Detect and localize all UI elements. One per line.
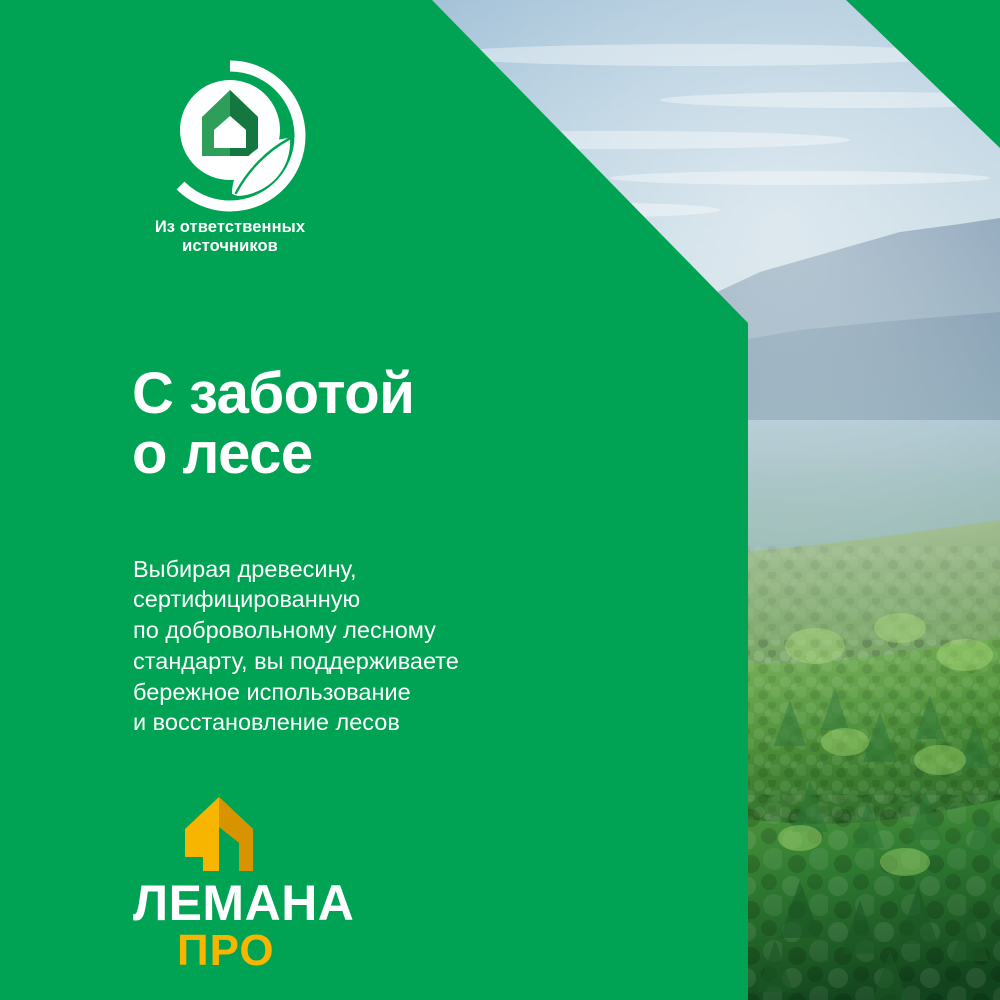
poster-content: Из ответственных источников С заботой о … (0, 0, 1000, 1000)
body-paragraph: Выбирая древесину, сертифицированную по … (133, 554, 603, 739)
lemana-house-icon (183, 795, 255, 873)
responsible-sources-seal-icon (154, 60, 306, 212)
badge-caption: Из ответственных источников (130, 218, 330, 257)
brand-name: ЛЕМАНА (133, 879, 323, 927)
brand-subname: ПРО (177, 929, 323, 973)
page-title: С заботой о лесе (132, 364, 414, 485)
poster-canvas: Из ответственных источников С заботой о … (0, 0, 1000, 1000)
responsible-sources-badge: Из ответственных источников (130, 60, 330, 257)
brand-lockup: ЛЕМАНА ПРО (133, 795, 323, 973)
